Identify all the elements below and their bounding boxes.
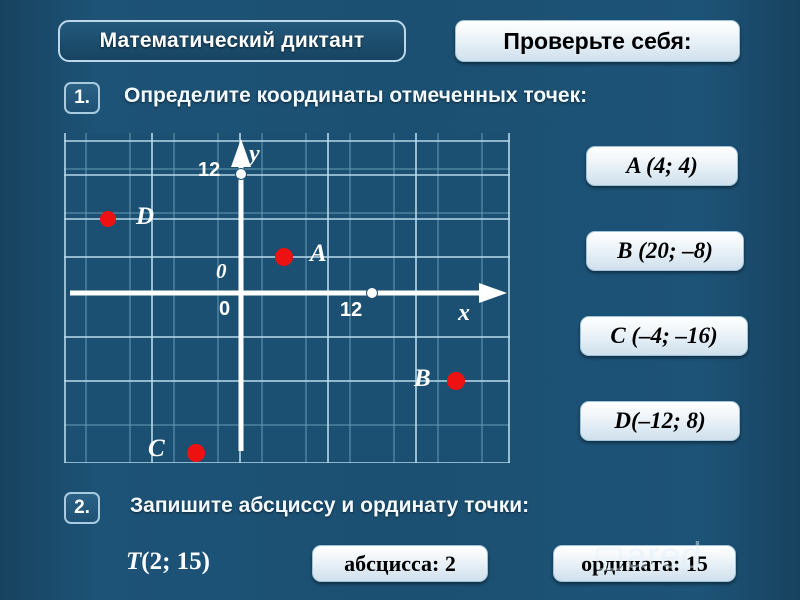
answer-point-a: A (4; 4) [586,146,738,186]
y-axis-label: y [249,141,260,168]
check-yourself-label: Проверьте себя: [503,28,691,55]
answer-point-c: C (–4; –16) [580,316,748,356]
abscissa-answer-text: абсцисса: 2 [344,551,456,577]
question-1-text: Определите координаты отмеченных точек: [124,84,587,108]
question-1-number: 1. [64,82,100,114]
question-1-number-label: 1. [74,87,90,109]
question-2-text: Запишите абсциссу и ординату точки: [130,494,529,518]
x-unit-tick-dot [367,288,378,299]
answer-point-b-text: B (20; –8) [617,238,713,264]
point-B-marker [447,372,465,390]
point-D-marker [100,211,116,227]
answer-point-d-text: D(–12; 8) [614,408,705,434]
check-yourself-box: Проверьте себя: [455,20,740,62]
point-A-marker [275,248,293,266]
answer-point-a-text: A (4; 4) [626,153,698,179]
coordinate-plane: y x 12 12 0 0 D A B C [64,133,510,463]
abscissa-answer-box: абсцисса: 2 [312,545,488,582]
lesson-title-box: Математический диктант [58,20,406,62]
origin-label-upper: 0 [216,259,227,284]
point-t-coords: (2; 15) [141,548,210,575]
point-C-marker [187,444,205,462]
point-C-label: C [148,435,165,463]
plane-background [64,133,510,463]
ordinata-answer-text: ордината: 15 [581,551,708,577]
point-t-label: T [126,548,141,575]
x-tick-12-label: 12 [340,299,362,322]
question-2-number: 2. [64,492,100,524]
x-axis-label: x [458,300,470,327]
ordinata-answer-box: ордината: 15 [553,545,736,582]
lesson-title: Математический диктант [100,29,365,53]
y-tick-12-label: 12 [198,159,220,182]
point-t-expression: T(2; 15) [126,548,210,576]
answer-point-c-text: C (–4; –16) [610,323,717,349]
origin-label-lower: 0 [219,298,230,321]
point-B-label: B [414,365,431,393]
answer-point-d: D(–12; 8) [580,401,740,441]
point-D-label: D [136,203,154,231]
y-unit-tick-dot [236,169,247,180]
point-A-label: A [310,240,327,268]
answer-point-b: B (20; –8) [586,231,744,271]
question-2-number-label: 2. [74,497,90,519]
